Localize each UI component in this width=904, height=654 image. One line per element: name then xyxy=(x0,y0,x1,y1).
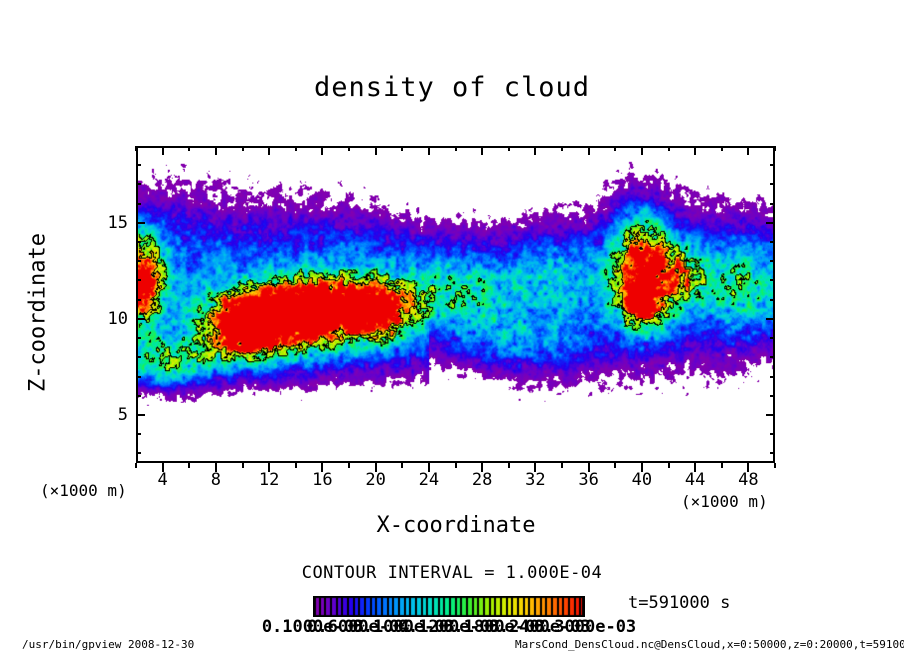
x-tick-top xyxy=(348,146,350,151)
y-axis-unit: (×1000 m) xyxy=(40,481,127,500)
x-tick xyxy=(455,463,457,468)
x-tick-label: 8 xyxy=(191,470,241,490)
density-field-canvas xyxy=(138,148,773,461)
x-tick xyxy=(135,463,137,468)
x-axis-label: X-coordinate xyxy=(288,513,624,538)
y-tick-minor xyxy=(136,203,141,205)
y-tick-minor-right xyxy=(770,260,775,262)
y-tick-minor-right xyxy=(770,279,775,281)
x-tick-top xyxy=(295,146,297,151)
x-tick-label: 20 xyxy=(351,470,401,490)
colorbar-gradient xyxy=(313,596,585,617)
x-tick-top xyxy=(135,146,137,151)
x-axis-unit: (×1000 m) xyxy=(681,492,768,511)
y-tick-minor xyxy=(136,299,141,301)
x-tick-label: 12 xyxy=(244,470,294,490)
y-tick-label: 15 xyxy=(88,213,128,233)
x-tick-label: 4 xyxy=(138,470,188,490)
y-axis-label: Z-coordinate xyxy=(26,213,51,413)
x-tick-top xyxy=(428,146,430,155)
x-tick-top xyxy=(455,146,457,151)
x-tick-top xyxy=(401,146,403,151)
y-tick-minor xyxy=(136,164,141,166)
y-tick-minor xyxy=(136,376,141,378)
y-tick-minor-right xyxy=(770,241,775,243)
y-tick-minor-right xyxy=(770,452,775,454)
y-tick-minor xyxy=(136,433,141,435)
y-tick-minor-right xyxy=(770,356,775,358)
x-tick-top xyxy=(162,146,164,155)
plot-area xyxy=(136,146,775,463)
x-tick-top xyxy=(534,146,536,155)
x-tick-top xyxy=(242,146,244,151)
x-tick xyxy=(721,463,723,468)
x-tick-label: 24 xyxy=(404,470,454,490)
x-tick-top xyxy=(641,146,643,155)
y-tick-minor-right xyxy=(770,164,775,166)
x-tick-top xyxy=(508,146,510,151)
x-tick xyxy=(242,463,244,468)
y-tick-right xyxy=(766,318,775,320)
y-tick-minor-right xyxy=(770,376,775,378)
x-tick-label: 44 xyxy=(670,470,720,490)
x-tick-top xyxy=(694,146,696,155)
x-tick xyxy=(561,463,563,468)
y-tick-minor-right xyxy=(770,433,775,435)
x-tick xyxy=(508,463,510,468)
x-tick-top xyxy=(614,146,616,151)
y-tick xyxy=(136,414,145,416)
y-tick-minor xyxy=(136,183,141,185)
colorbar-tick-label: 0.3000e-03 xyxy=(534,617,636,637)
x-tick xyxy=(295,463,297,468)
y-tick-minor-right xyxy=(770,203,775,205)
y-tick xyxy=(136,318,145,320)
x-tick xyxy=(614,463,616,468)
x-tick-top xyxy=(774,146,776,151)
x-tick-label: 48 xyxy=(723,470,773,490)
x-tick-top xyxy=(215,146,217,155)
y-tick-minor xyxy=(136,395,141,397)
x-tick-top xyxy=(721,146,723,151)
x-tick-top xyxy=(561,146,563,151)
y-tick-minor-right xyxy=(770,299,775,301)
x-tick-top xyxy=(268,146,270,155)
y-tick-label: 5 xyxy=(88,405,128,425)
x-tick-top xyxy=(321,146,323,155)
y-tick-right xyxy=(766,222,775,224)
y-tick-minor-right xyxy=(770,183,775,185)
y-tick-right xyxy=(766,414,775,416)
footer-command: /usr/bin/gpview 2008-12-30 xyxy=(22,638,194,651)
x-tick-top xyxy=(481,146,483,155)
colorbar xyxy=(313,596,585,617)
x-tick-top xyxy=(668,146,670,151)
x-tick-label: 36 xyxy=(564,470,614,490)
x-tick xyxy=(188,463,190,468)
y-tick-minor xyxy=(136,241,141,243)
colorbar-tick-labels: 0.1000e-030.6000e-040.1000e-030.1200e-03… xyxy=(313,617,585,639)
y-tick-minor xyxy=(136,337,141,339)
x-tick-label: 16 xyxy=(297,470,347,490)
y-tick xyxy=(136,222,145,224)
timestamp-label: t=591000 s xyxy=(628,593,730,613)
x-tick-top xyxy=(188,146,190,151)
y-tick-label: 10 xyxy=(88,309,128,329)
x-tick xyxy=(348,463,350,468)
x-tick-top xyxy=(375,146,377,155)
x-tick-top xyxy=(588,146,590,155)
x-tick xyxy=(774,463,776,468)
y-tick-minor-right xyxy=(770,395,775,397)
y-tick-minor xyxy=(136,279,141,281)
x-tick-top xyxy=(747,146,749,155)
x-tick xyxy=(668,463,670,468)
y-tick-minor xyxy=(136,260,141,262)
footer-dataset: MarsCond_DensCloud.nc@DensCloud,x=0:5000… xyxy=(515,638,904,651)
x-tick-label: 32 xyxy=(510,470,560,490)
x-tick xyxy=(401,463,403,468)
x-tick-label: 28 xyxy=(457,470,507,490)
page-title: density of cloud xyxy=(0,72,904,103)
contour-interval-label: CONTOUR INTERVAL = 1.000E-04 xyxy=(0,563,904,583)
x-tick-label: 40 xyxy=(617,470,667,490)
y-tick-minor xyxy=(136,356,141,358)
y-tick-minor xyxy=(136,452,141,454)
y-tick-minor-right xyxy=(770,337,775,339)
